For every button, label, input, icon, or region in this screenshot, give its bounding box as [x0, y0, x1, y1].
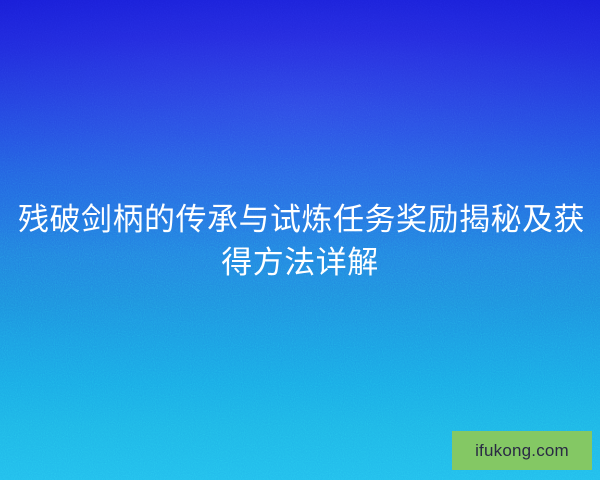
banner-image: 残破剑柄的传承与试炼任务奖励揭秘及获 得方法详解 ifukong.com [0, 0, 600, 480]
page-title: 残破剑柄的传承与试炼任务奖励揭秘及获 得方法详解 [0, 198, 600, 284]
title-line-2: 得方法详解 [18, 241, 582, 284]
watermark-label: ifukong.com [475, 442, 569, 459]
title-line-1: 残破剑柄的传承与试炼任务奖励揭秘及获 [18, 198, 582, 241]
watermark-badge: ifukong.com [452, 431, 592, 470]
